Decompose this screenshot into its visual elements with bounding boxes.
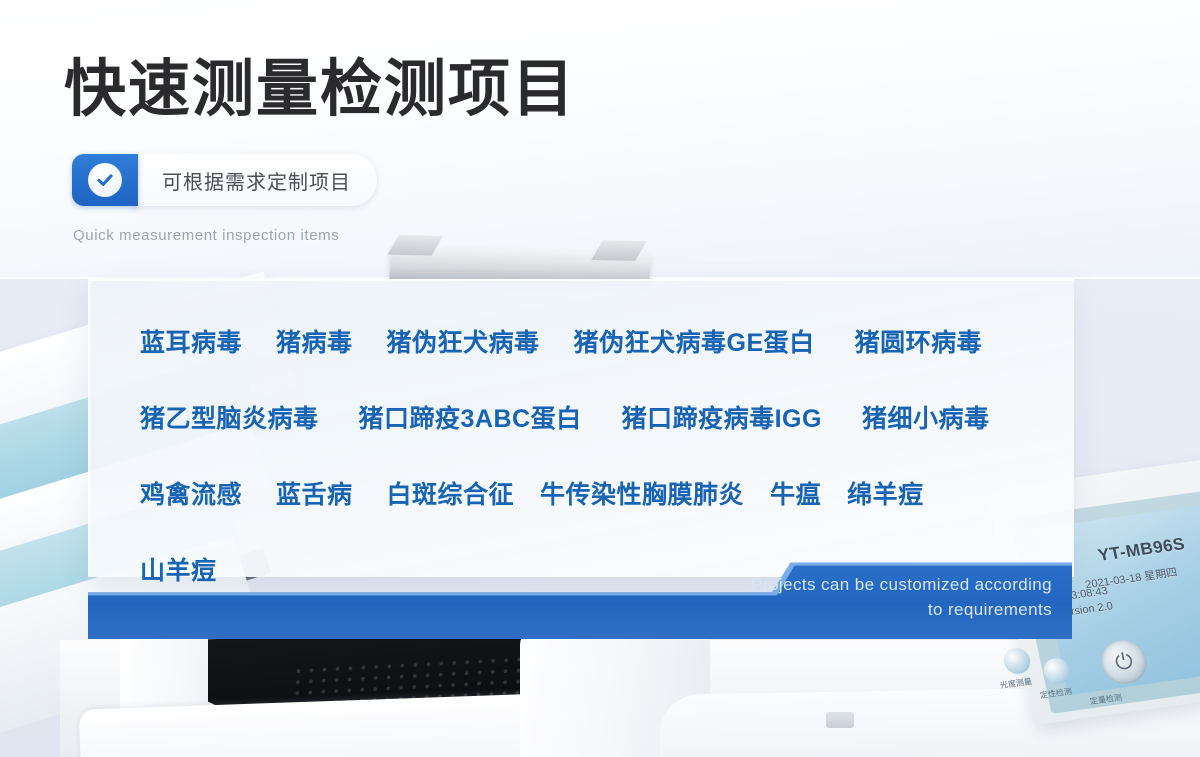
items-row: 猪乙型脑炎病毒 猪口蹄疫3ABC蛋白 猪口蹄疫病毒IGG 猪细小病毒	[140, 379, 1052, 455]
device-latch-tab	[826, 712, 854, 728]
poster-root: YT-MB96S 2021-03-18 星期四 13:08:43 Version…	[0, 0, 1200, 757]
list-item[interactable]: 鸡禽流感	[140, 475, 242, 511]
list-item[interactable]: 猪口蹄疫病毒IGG	[622, 399, 822, 435]
list-item[interactable]: 牛瘟	[770, 475, 821, 511]
items-card: 蓝耳病毒 猪病毒 猪伪狂犬病毒 猪伪狂犬病毒GE蛋白 猪圆环病毒 猪乙型脑炎病毒…	[88, 279, 1074, 577]
list-item[interactable]: 绵羊痘	[847, 475, 924, 511]
list-item[interactable]: 猪细小病毒	[862, 399, 990, 435]
list-item[interactable]: 牛传染性胸膜肺炎	[540, 475, 744, 511]
list-item[interactable]: 猪口蹄疫3ABC蛋白	[359, 399, 582, 435]
banner-line-2: to requirements	[640, 597, 1052, 622]
page-title: 快速测量检测项目	[64, 52, 576, 128]
list-item[interactable]: 猪病毒	[276, 323, 353, 359]
banner-line-1: Projects can be customized according	[640, 572, 1052, 597]
customization-banner-text: Projects can be customized according to …	[640, 572, 1052, 622]
list-item[interactable]: 山羊痘	[140, 551, 217, 587]
items-row: 蓝耳病毒 猪病毒 猪伪狂犬病毒 猪伪狂犬病毒GE蛋白 猪圆环病毒	[140, 303, 1052, 379]
list-item[interactable]: 猪伪狂犬病毒	[387, 323, 540, 359]
items-card-inner: 蓝耳病毒 猪病毒 猪伪狂犬病毒 猪伪狂犬病毒GE蛋白 猪圆环病毒 猪乙型脑炎病毒…	[140, 303, 1052, 607]
badge-label: 可根据需求定制项目	[132, 154, 377, 206]
list-item[interactable]: 猪伪狂犬病毒GE蛋白	[574, 323, 815, 359]
items-row: 鸡禽流感 蓝舌病 白斑综合征 牛传染性胸膜肺炎 牛瘟 绵羊痘	[140, 455, 1052, 531]
custom-projects-badge: 可根据需求定制项目	[72, 154, 377, 206]
list-item[interactable]: 猪乙型脑炎病毒	[140, 399, 319, 435]
list-item[interactable]: 蓝舌病	[276, 475, 353, 511]
page-subtitle-en: Quick measurement inspection items	[73, 227, 339, 244]
list-item[interactable]: 白斑综合征	[387, 475, 515, 511]
badge-icon-box	[72, 154, 138, 206]
check-circle-icon	[88, 163, 122, 197]
list-item[interactable]: 蓝耳病毒	[140, 323, 242, 359]
list-item[interactable]: 猪圆环病毒	[855, 323, 983, 359]
